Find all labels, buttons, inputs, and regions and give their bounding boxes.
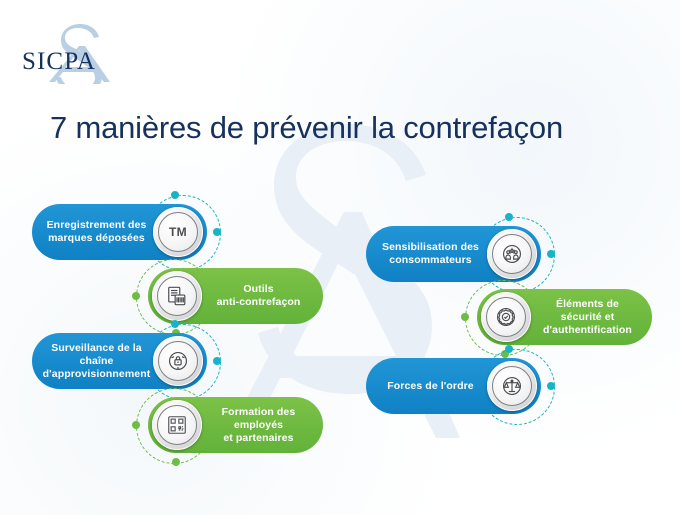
consumers-icon (501, 243, 523, 265)
icon-ring (157, 405, 197, 445)
step-label-line: Éléments de (531, 298, 644, 311)
step-label-line: Sensibilisation des (374, 241, 487, 254)
step-node-employee-partner-training[interactable]: Formation desemployéset partenaires (148, 397, 323, 453)
step-icon-disc[interactable]: TM (153, 207, 203, 257)
logo-wordmark: SICPA (22, 48, 96, 76)
sicpa-logo: SICPA (22, 22, 132, 82)
accent-dot (461, 313, 469, 321)
icon-ring: TM (158, 212, 198, 252)
step-icon-disc[interactable] (481, 292, 531, 342)
step-icon-disc[interactable] (153, 336, 203, 386)
icon-ring (492, 366, 532, 406)
step-node-supply-chain-surveillance[interactable]: Surveillance de lachaîned'approvisionnem… (32, 333, 207, 389)
icon-ring (158, 341, 198, 381)
supply-chain-lock-icon (167, 350, 189, 372)
step-node-trademark-registration[interactable]: Enregistrement desmarques déposéesTM (32, 204, 207, 260)
step-label-line: marques déposées (40, 232, 153, 245)
step-label-line: d'authentification (531, 324, 644, 337)
accent-dot (547, 382, 555, 390)
step-node-anti-counterfeiting-tools[interactable]: Outilsanti-contrefaçon (148, 268, 323, 324)
step-icon-disc[interactable] (152, 271, 202, 321)
step-label-line: d'approvisionnement (40, 368, 153, 381)
icon-ring (157, 276, 197, 316)
step-label-line: Formation des (202, 406, 315, 419)
trademark-icon: TM (169, 225, 187, 239)
accent-dot (505, 213, 513, 221)
step-icon-disc[interactable] (487, 229, 537, 279)
page-title: 7 manières de prévenir la contrefaçon (50, 110, 650, 146)
accent-dot (132, 292, 140, 300)
step-label-line: anti-contrefaçon (202, 296, 315, 309)
qr-code-icon (166, 414, 188, 436)
step-node-security-authentication-features[interactable]: Éléments desécurité etd'authentification (477, 289, 652, 345)
icon-ring (492, 234, 532, 274)
step-label-line: consommateurs (374, 254, 487, 267)
document-scan-icon (166, 285, 188, 307)
step-label-line: Surveillance de la (40, 342, 153, 355)
step-icon-disc[interactable] (487, 361, 537, 411)
step-label-line: chaîne (40, 355, 153, 368)
step-node-consumer-awareness[interactable]: Sensibilisation desconsommateurs (366, 226, 541, 282)
accent-dot (213, 357, 221, 365)
accent-dot (505, 345, 513, 353)
accent-dot (132, 421, 140, 429)
step-label-line: Forces de l'ordre (374, 380, 487, 393)
accent-dot (213, 228, 221, 236)
step-label-line: employés (202, 419, 315, 432)
step-label-line: Enregistrement des (40, 219, 153, 232)
step-node-law-enforcement[interactable]: Forces de l'ordre (366, 358, 541, 414)
step-label-line: et partenaires (202, 432, 315, 445)
accent-dot (547, 250, 555, 258)
accent-dot (171, 320, 179, 328)
step-label-line: Outils (202, 283, 315, 296)
accent-dot (171, 191, 179, 199)
step-icon-disc[interactable] (152, 400, 202, 450)
step-label-line: sécurité et (531, 311, 644, 324)
accent-dot (172, 458, 180, 466)
security-seal-check-icon (495, 306, 517, 328)
slide-canvas: SICPA 7 manières de prévenir la contrefa… (0, 0, 680, 515)
scales-of-justice-icon (501, 375, 523, 397)
icon-ring (486, 297, 526, 337)
